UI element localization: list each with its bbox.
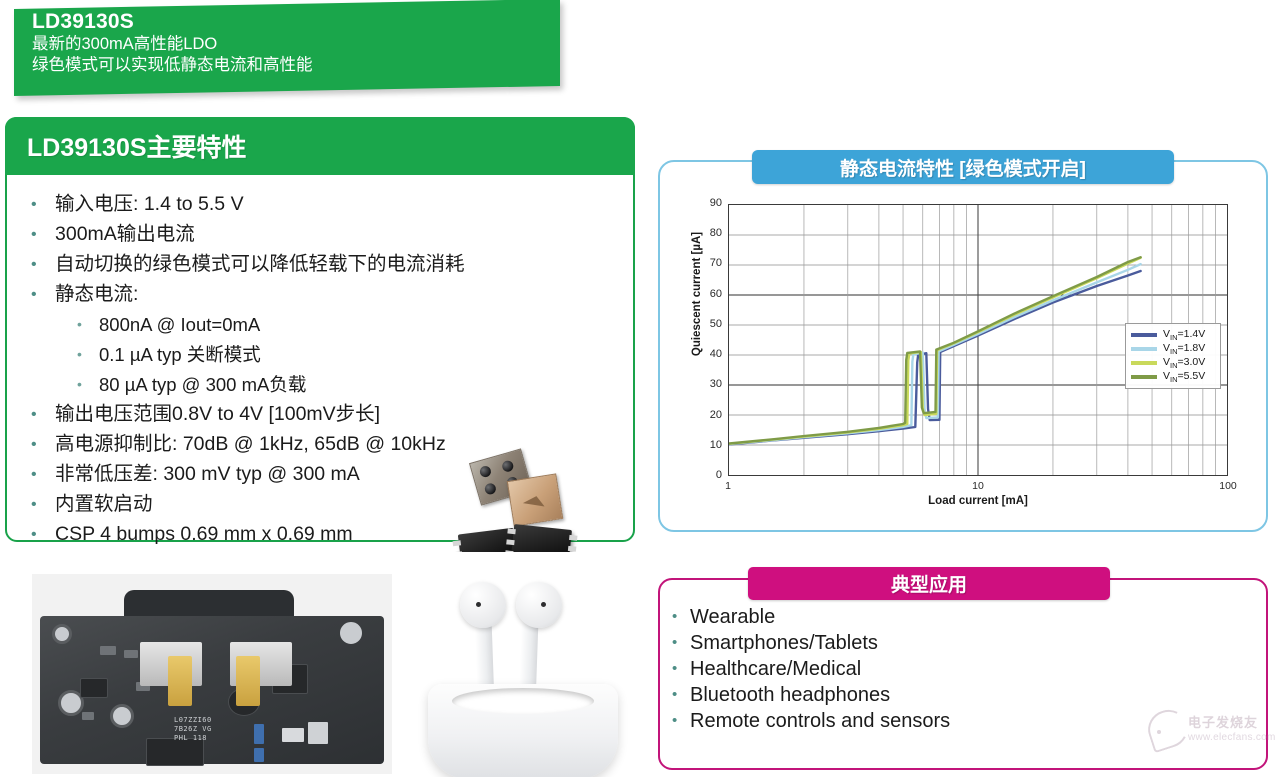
chart-y-tick: 80 xyxy=(696,227,722,239)
watermark: 电子发烧友 www.elecfans.com xyxy=(1148,706,1272,764)
feature-item: •输出电压范围0.8V to 4V [100mV步长] xyxy=(31,400,635,429)
feature-item: •800nA @ Iout=0mA xyxy=(31,310,635,339)
watermark-logo-dot-icon xyxy=(1157,730,1161,734)
feature-item-label: 内置软启动 xyxy=(55,490,153,519)
features-panel-header: LD39130S主要特性 xyxy=(5,117,635,175)
applications-title-tab: 典型应用 xyxy=(748,567,1110,600)
chart-x-axis-label: Load current [mA] xyxy=(728,495,1228,507)
chart-legend-swatch xyxy=(1131,375,1157,379)
chart-legend-label: VIN=3.0V xyxy=(1163,356,1205,370)
application-item: •Healthcare/Medical xyxy=(672,656,1232,682)
application-item: •Wearable xyxy=(672,604,1232,630)
bullet-icon: • xyxy=(672,630,690,656)
chart-y-tick: 30 xyxy=(696,378,722,390)
chart-title: 静态电流特性 [绿色模式开启] xyxy=(840,154,1086,181)
bullet-icon: • xyxy=(31,400,55,429)
feature-item: •0.1 µA typ 关断模式 xyxy=(31,340,635,369)
chart-legend-swatch xyxy=(1131,333,1157,337)
bullet-icon: • xyxy=(31,190,55,219)
banner-subtitle-1: 最新的300mA高性能LDO xyxy=(32,34,560,55)
feature-item-label: 非常低压差: 300 mV typ @ 300 mA xyxy=(55,460,360,489)
banner-subtitle-2: 绿色模式可以实现低静态电流和高性能 xyxy=(32,55,560,76)
chart-y-tick: 90 xyxy=(696,197,722,209)
feature-item-label: 800nA @ Iout=0mA xyxy=(99,310,260,339)
watermark-logo-icon xyxy=(1143,705,1193,754)
pcb-photo: L07ZZI60 7B26Z VG PHL 118 xyxy=(32,574,392,774)
application-item: •Bluetooth headphones xyxy=(672,682,1232,708)
bullet-icon: • xyxy=(31,430,55,459)
product-title: LD39130S xyxy=(32,10,560,34)
application-item-label: Smartphones/Tablets xyxy=(690,630,878,656)
pcb-gold-finger-right xyxy=(236,656,260,706)
chart-legend-label: VIN=5.5V xyxy=(1163,370,1205,384)
feature-item-label: 80 µA typ @ 300 mA负载 xyxy=(99,370,306,399)
feature-item-label: 0.1 µA typ 关断模式 xyxy=(99,340,261,369)
chart-legend-label: VIN=1.8V xyxy=(1163,342,1205,356)
application-item-label: Bluetooth headphones xyxy=(690,682,890,708)
watermark-site-url: www.elecfans.com xyxy=(1188,732,1276,743)
applications-title: 典型应用 xyxy=(891,570,967,597)
bullet-icon: • xyxy=(672,682,690,708)
bullet-icon: • xyxy=(77,370,99,399)
feature-item-label: 300mA输出电流 xyxy=(55,220,195,249)
chart-legend-item: VIN=3.0V xyxy=(1131,356,1215,370)
bullet-icon: • xyxy=(672,656,690,682)
chart-y-tick-labels: 0102030405060708090 xyxy=(694,204,722,476)
application-item: •Smartphones/Tablets xyxy=(672,630,1232,656)
feature-item-label: 自动切换的绿色模式可以降低轻载下的电流消耗 xyxy=(55,250,465,279)
bullet-icon: • xyxy=(77,310,99,339)
chart-y-tick: 10 xyxy=(696,439,722,451)
feature-item: •300mA输出电流 xyxy=(31,220,635,249)
chart-legend-swatch xyxy=(1131,361,1157,365)
bullet-icon: • xyxy=(31,280,55,309)
chart-y-tick: 0 xyxy=(696,469,722,481)
bullet-icon: • xyxy=(31,460,55,489)
application-item-label: Wearable xyxy=(690,604,775,630)
chart-x-tick: 100 xyxy=(1219,480,1237,492)
chart-plot-area: VIN=1.4VVIN=1.8VVIN=3.0VVIN=5.5V xyxy=(728,204,1228,476)
bullet-icon: • xyxy=(31,220,55,249)
watermark-site-name: 电子发烧友 xyxy=(1188,712,1258,731)
bullet-icon: • xyxy=(31,250,55,279)
chart-legend-label: VIN=1.4V xyxy=(1163,328,1205,342)
charging-case-lid xyxy=(452,688,594,714)
product-photo-strip: L07ZZI60 7B26Z VG PHL 118 xyxy=(0,552,648,777)
chart-y-tick: 50 xyxy=(696,318,722,330)
chart-y-tick: 20 xyxy=(696,409,722,421)
feature-item: •自动切换的绿色模式可以降低轻载下的电流消耗 xyxy=(31,250,635,279)
earbud-left xyxy=(460,582,506,628)
csp-package-photo xyxy=(474,455,570,527)
pcb-gold-finger-left xyxy=(168,656,192,706)
feature-item-label: 输出电压范围0.8V to 4V [100mV步长] xyxy=(55,400,380,429)
feature-item: •静态电流: xyxy=(31,280,635,309)
airpods-photo xyxy=(418,572,628,777)
features-title: LD39130S主要特性 xyxy=(5,128,247,164)
chart-series-line xyxy=(729,257,1141,443)
feature-item-label: 高电源抑制比: 70dB @ 1kHz, 65dB @ 10kHz xyxy=(55,430,446,459)
application-item-label: Healthcare/Medical xyxy=(690,656,861,682)
chart-legend-item: VIN=1.4V xyxy=(1131,328,1215,342)
chart-title-tab: 静态电流特性 [绿色模式开启] xyxy=(752,150,1174,184)
title-banner: LD39130S 最新的300mA高性能LDO 绿色模式可以实现低静态电流和高性… xyxy=(14,0,560,96)
feature-item-label: CSP 4 bumps 0.69 mm x 0.69 mm xyxy=(55,520,353,549)
bullet-icon: • xyxy=(672,604,690,630)
chart-x-tick: 10 xyxy=(972,480,984,492)
chart-area: Quiescent current [µA] 01020304050607080… xyxy=(678,192,1258,522)
chart-x-tick-labels: 110100 xyxy=(728,480,1228,496)
feature-item-label: 静态电流: xyxy=(55,280,138,309)
csp-top-side xyxy=(507,473,564,526)
feature-item: •输入电压: 1.4 to 5.5 V xyxy=(31,190,635,219)
bullet-icon: • xyxy=(672,708,690,734)
bullet-icon: • xyxy=(31,490,55,519)
chart-series-line xyxy=(729,264,1141,444)
pcb-silkscreen-text: L07ZZI60 7B26Z VG PHL 118 xyxy=(174,716,212,743)
chart-legend-item: VIN=1.8V xyxy=(1131,342,1215,356)
feature-item-label: 输入电压: 1.4 to 5.5 V xyxy=(55,190,244,219)
st-logo-icon xyxy=(523,494,547,506)
chart-y-tick: 70 xyxy=(696,257,722,269)
feature-item: •80 µA typ @ 300 mA负载 xyxy=(31,370,635,399)
chart-y-tick: 40 xyxy=(696,348,722,360)
bullet-icon: • xyxy=(77,340,99,369)
pcb-board: L07ZZI60 7B26Z VG PHL 118 xyxy=(40,616,384,764)
chart-legend-item: VIN=5.5V xyxy=(1131,370,1215,384)
charging-case xyxy=(428,684,618,777)
chart-x-tick: 1 xyxy=(725,480,731,492)
application-item-label: Remote controls and sensors xyxy=(690,708,950,734)
chart-legend: VIN=1.4VVIN=1.8VVIN=3.0VVIN=5.5V xyxy=(1125,323,1221,389)
earbud-right xyxy=(516,582,562,628)
bullet-icon: • xyxy=(31,520,55,549)
chart-legend-swatch xyxy=(1131,347,1157,351)
chart-y-tick: 60 xyxy=(696,288,722,300)
